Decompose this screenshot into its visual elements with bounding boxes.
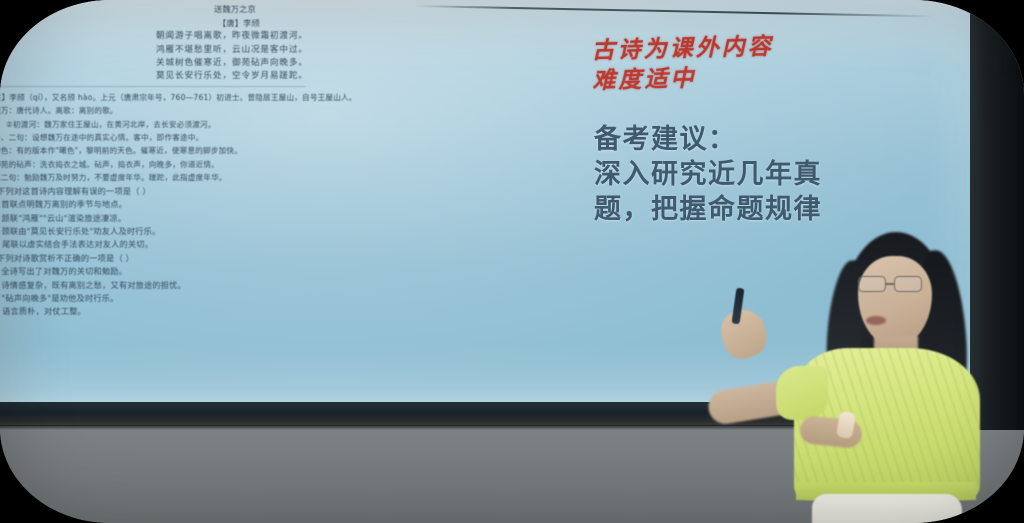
question-1-option-a: A. 首联点明魏万离别的季节与地点。 — [0, 198, 564, 211]
doc-note-5: ④树色：有的版本作"曙色"，黎明前的天色。催寒近，使寒意的脚步加快。 — [0, 144, 564, 157]
poem-line-4: 莫见长安行乐处，空令岁月易蹉跎。 — [0, 70, 564, 83]
question-1-option-b: B. 颔联"鸿雁""云山"渲染旅途凄凉。 — [0, 212, 564, 225]
doc-note-1: 【注】李颀（qí），又名颀 hào。上元（唐肃宗年号，760—761）初进士。曾… — [0, 91, 564, 104]
question-2-option-a: A. 全诗写出了对魏万的关切和勉励。 — [0, 265, 564, 278]
exam-advice-line-2: 深入研究近几年真 — [594, 157, 822, 192]
doc-note-7: ⑥末二句：勉励魏万及时努力，不要虚度年华。蹉跎，此指虚度年华。 — [0, 171, 564, 184]
exam-advice-heading: 备考建议： 深入研究近几年真 题，把握命题规律 — [594, 122, 822, 227]
exam-advice-line-3: 题，把握命题规律 — [594, 192, 822, 227]
glasses-icon — [856, 276, 934, 293]
screenshot-canvas: 2 题，每题 5 分，一共 10 分） 送魏万之京 【唐】李颀 朝闻游子唱离歌，… — [0, 0, 1024, 523]
question-1-option-d: D. 尾联以虚实结合手法表达对友人的关切。 — [0, 238, 564, 251]
teacher-figure — [770, 232, 980, 523]
poem-line-3: 关城树色催寒近，御苑砧声向晚多。 — [0, 57, 564, 70]
question-1-stem: 1. 下列对这首诗内容理解有误的一项是（ ） — [0, 185, 564, 198]
doc-note-6: ⑤御苑的砧声：洗衣捣衣之城。砧声，捣衣声，向晚多，你道近情。 — [0, 158, 564, 171]
poem-line-2: 鸿雁不堪愁里听，云山况是客中过。 — [0, 44, 564, 57]
question-2-stem: 2. 下列对诗歌赏析不正确的一项是（ ） — [0, 252, 564, 265]
red-annotation-line-2: 难度适中 — [592, 62, 775, 96]
glasses-lens-right — [894, 276, 922, 292]
doc-note-4: ③一、二句：设想魏万在途中的真实心情。客中，即作客途中。 — [0, 131, 564, 144]
question-2-option-d: D. 语言质朴，对仗工整。 — [0, 305, 564, 318]
divider — [0, 86, 306, 87]
glasses-lens-left — [858, 276, 886, 292]
glasses-bridge — [886, 283, 894, 285]
doc-note-3: ②初渡河：魏万家住王屋山，在黄河北岸，去长安必须渡河。 — [0, 118, 564, 131]
video-frame: 2 题，每题 5 分，一共 10 分） 送魏万之京 【唐】李颀 朝闻游子唱离歌，… — [0, 0, 1024, 523]
red-annotation-line-1: 古诗为课外内容 — [591, 32, 774, 66]
red-handwritten-annotation: 古诗为课外内容 难度适中 — [591, 32, 774, 96]
poem-author: 【唐】李颀 — [0, 17, 564, 30]
projected-document: 2 题，每题 5 分，一共 10 分） 送魏万之京 【唐】李颀 朝闻游子唱离歌，… — [0, 0, 564, 390]
doc-note-2: ①魏万：唐代诗人。离歌：离别的歌。 — [0, 104, 564, 117]
question-2-option-b: B. 诗情感复杂，既有离别之愁，又有对旅途的担忧。 — [0, 279, 564, 292]
exam-advice-line-1: 备考建议： — [594, 122, 822, 157]
question-1-option-c: C. 颈联由"莫见长安行乐处"劝友人及时行乐。 — [0, 225, 564, 238]
poem-title: 送魏万之京 — [0, 3, 564, 16]
sleeve — [776, 366, 828, 420]
poem-line-1: 朝闻游子唱离歌，昨夜微霜初渡河。 — [0, 30, 564, 43]
question-2-option-c: C. "砧声向晚多"是劝他及时行乐。 — [0, 292, 564, 305]
mouth — [866, 316, 886, 325]
white-pants — [812, 494, 962, 523]
